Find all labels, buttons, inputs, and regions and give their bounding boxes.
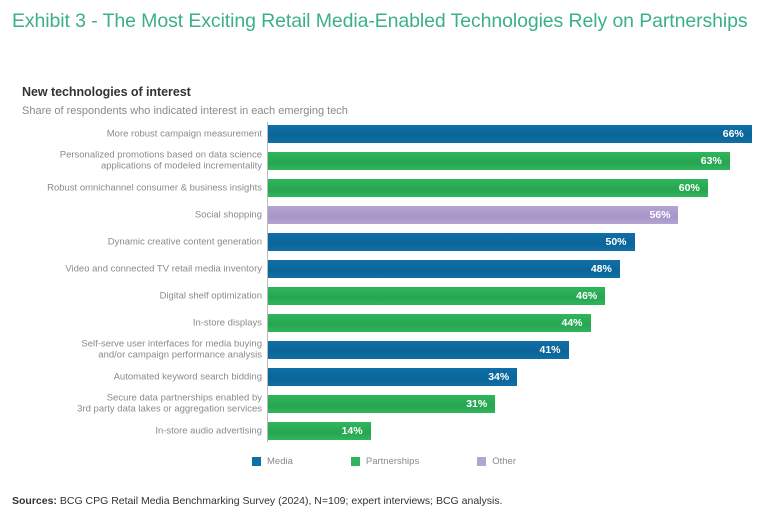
bar-value-label: 41% [540, 344, 561, 356]
bar-row: More robust campaign measurement66% [0, 120, 768, 147]
bar-partnerships[interactable]: 46% [268, 287, 605, 305]
bar-partnerships[interactable]: 14% [268, 422, 371, 440]
bar-row: Robust omnichannel consumer & business i… [0, 174, 768, 201]
bar-category-label: Self-serve user interfaces for media buy… [12, 338, 262, 361]
bar-container: 50% [268, 233, 635, 251]
exhibit-page: Exhibit 3 - The Most Exciting Retail Med… [0, 0, 768, 523]
bar-row: In-store displays44% [0, 309, 768, 336]
bar-container: 41% [268, 341, 569, 359]
bar-category-label: Personalized promotions based on data sc… [12, 149, 262, 172]
bar-category-label: Dynamic creative content generation [12, 236, 262, 248]
bar-media[interactable]: 50% [268, 233, 635, 251]
bar-container: 46% [268, 287, 605, 305]
legend-item-media[interactable]: Media [252, 456, 293, 467]
sources-label: Sources: [12, 495, 57, 507]
legend-label: Media [267, 456, 293, 467]
bar-row: Secure data partnerships enabled by 3rd … [0, 390, 768, 417]
bar-media[interactable]: 48% [268, 260, 620, 278]
page-title: Exhibit 3 - The Most Exciting Retail Med… [12, 8, 757, 35]
legend-label: Partnerships [366, 456, 419, 467]
bar-row: In-store audio advertising14% [0, 417, 768, 444]
sources-text: BCG CPG Retail Media Benchmarking Survey… [57, 495, 503, 507]
bar-row: Automated keyword search bidding34% [0, 363, 768, 390]
bar-value-label: 66% [723, 128, 744, 140]
chart-plot-area: More robust campaign measurement66%Perso… [0, 120, 768, 445]
bar-media[interactable]: 66% [268, 125, 752, 143]
bar-value-label: 44% [562, 317, 583, 329]
bar-partnerships[interactable]: 60% [268, 179, 708, 197]
bar-category-label: Robust omnichannel consumer & business i… [12, 182, 262, 194]
bar-row: Personalized promotions based on data sc… [0, 147, 768, 174]
bar-other[interactable]: 56% [268, 206, 678, 224]
bar-row: Digital shelf optimization46% [0, 282, 768, 309]
legend-label: Other [492, 456, 516, 467]
bar-partnerships[interactable]: 63% [268, 152, 730, 170]
bar-category-label: More robust campaign measurement [12, 128, 262, 140]
chart-header: New technologies of interest Share of re… [22, 85, 542, 118]
bar-category-label: Social shopping [12, 209, 262, 221]
bar-value-label: 46% [576, 290, 597, 302]
bar-value-label: 63% [701, 155, 722, 167]
chart-title: New technologies of interest [22, 85, 542, 100]
bar-category-label: Digital shelf optimization [12, 290, 262, 302]
legend-item-other[interactable]: Other [477, 456, 516, 467]
bar-row: Social shopping56% [0, 201, 768, 228]
bar-container: 63% [268, 152, 730, 170]
bar-category-label: Video and connected TV retail media inve… [12, 263, 262, 275]
bar-partnerships[interactable]: 44% [268, 314, 591, 332]
legend-swatch-icon [351, 457, 360, 466]
bar-media[interactable]: 34% [268, 368, 517, 386]
bar-container: 56% [268, 206, 678, 224]
bar-container: 31% [268, 395, 495, 413]
bar-value-label: 31% [466, 398, 487, 410]
bar-media[interactable]: 41% [268, 341, 569, 359]
bar-value-label: 60% [679, 182, 700, 194]
legend-swatch-icon [477, 457, 486, 466]
bar-value-label: 48% [591, 263, 612, 275]
bar-category-label: In-store audio advertising [12, 425, 262, 437]
bar-category-label: In-store displays [12, 317, 262, 329]
sources-note: Sources: BCG CPG Retail Media Benchmarki… [12, 494, 503, 508]
bar-value-label: 50% [605, 236, 626, 248]
bar-container: 48% [268, 260, 620, 278]
bar-value-label: 14% [342, 425, 363, 437]
bar-container: 34% [268, 368, 517, 386]
bar-container: 44% [268, 314, 591, 332]
bar-partnerships[interactable]: 31% [268, 395, 495, 413]
bar-container: 60% [268, 179, 708, 197]
bar-container: 14% [268, 422, 371, 440]
bar-row: Self-serve user interfaces for media buy… [0, 336, 768, 363]
bar-row: Dynamic creative content generation50% [0, 228, 768, 255]
bar-value-label: 56% [649, 209, 670, 221]
chart-subtitle: Share of respondents who indicated inter… [22, 104, 542, 118]
bar-value-label: 34% [488, 371, 509, 383]
bar-category-label: Secure data partnerships enabled by 3rd … [12, 392, 262, 415]
bar-rows: More robust campaign measurement66%Perso… [0, 120, 768, 444]
bar-category-label: Automated keyword search bidding [12, 371, 262, 383]
legend-swatch-icon [252, 457, 261, 466]
bar-container: 66% [268, 125, 752, 143]
chart-legend: MediaPartnershipsOther [0, 456, 768, 467]
bar-row: Video and connected TV retail media inve… [0, 255, 768, 282]
legend-item-partnerships[interactable]: Partnerships [351, 456, 419, 467]
